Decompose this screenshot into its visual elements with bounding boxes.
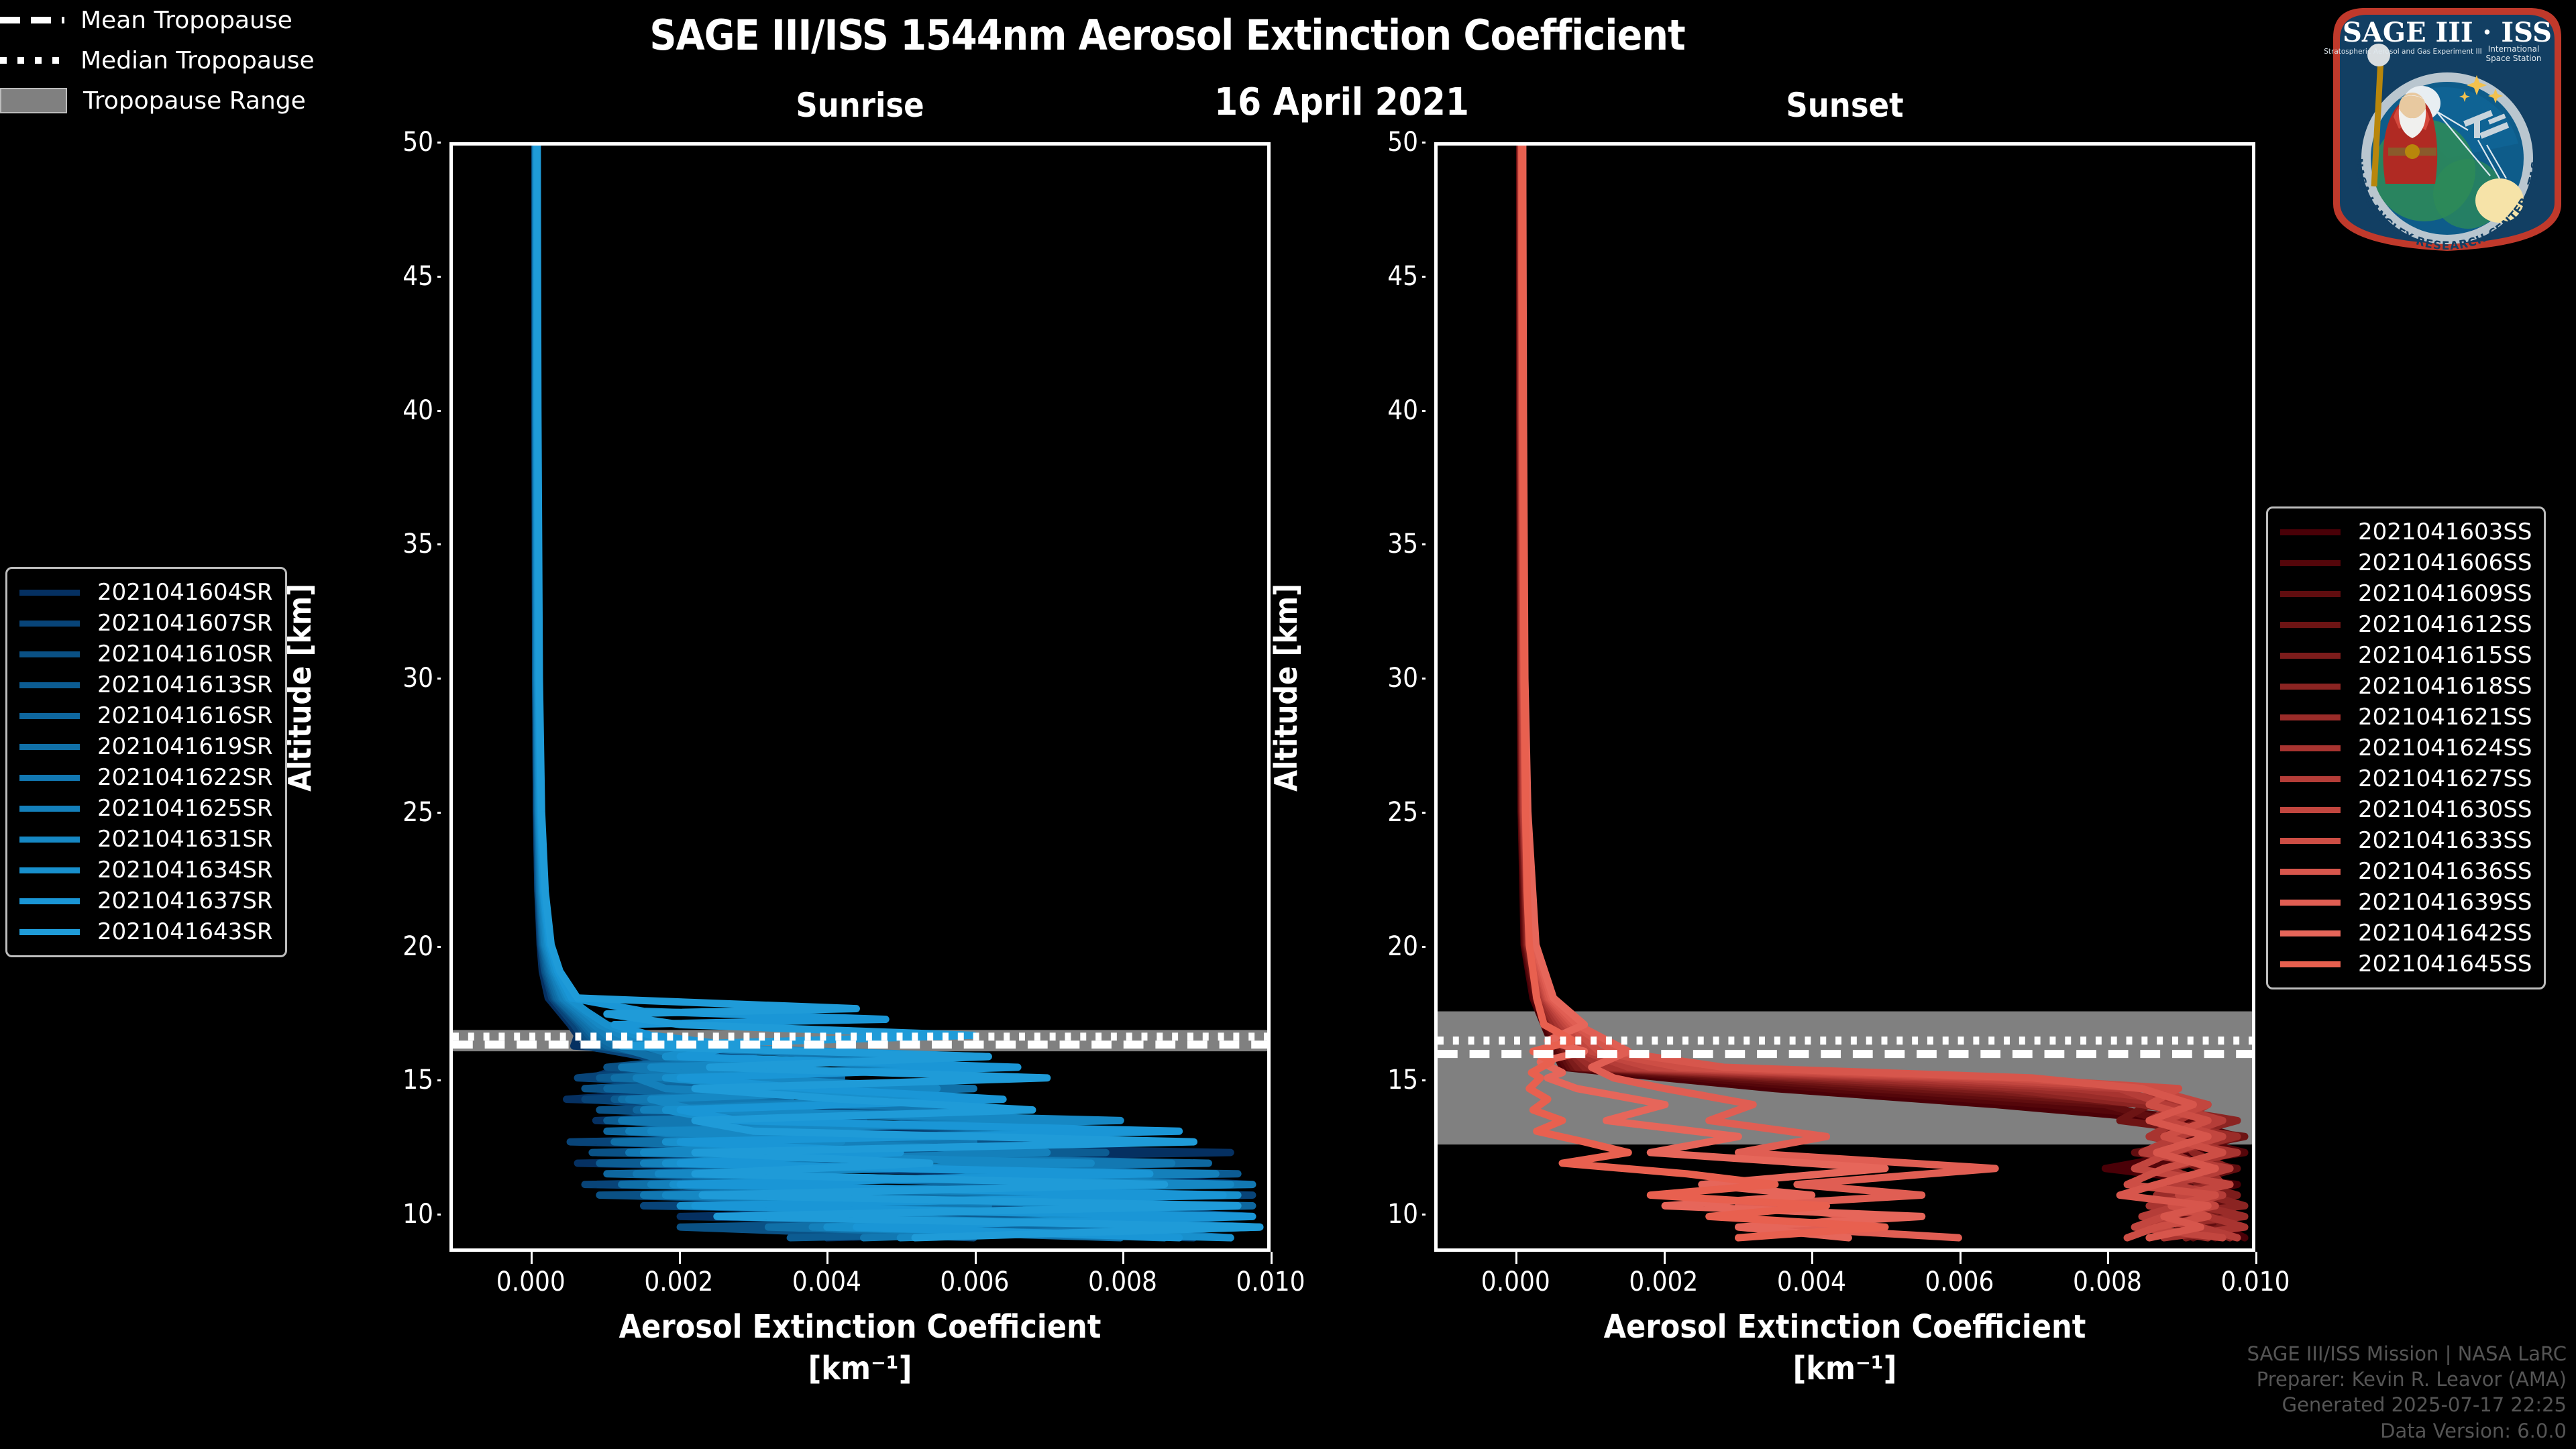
x-axis-tick-label: 0.002 <box>1629 1267 1698 1297</box>
legend-label: 2021041616SR <box>97 702 273 729</box>
legend-item[interactable]: 2021041604SR <box>19 577 273 608</box>
legend-label: 2021041603SS <box>2358 519 2532 545</box>
legend-item[interactable]: 2021041630SS <box>2280 794 2532 825</box>
sunrise-legend[interactable]: 2021041604SR2021041607SR2021041610SR2021… <box>5 567 287 957</box>
legend-color-swatch <box>19 775 80 781</box>
legend-color-swatch <box>19 621 80 627</box>
legend-color-swatch <box>2280 745 2341 751</box>
x-axis-tick-label: 0.002 <box>644 1267 713 1297</box>
legend-color-swatch <box>2280 961 2341 967</box>
legend-item[interactable]: 2021041637SR <box>19 885 273 916</box>
legend-item[interactable]: 2021041636SS <box>2280 856 2532 887</box>
legend-item[interactable]: 2021041609SS <box>2280 578 2532 609</box>
x-axis-tick <box>1811 1252 1813 1264</box>
y-axis-tick <box>437 543 441 545</box>
legend-color-swatch <box>2280 807 2341 813</box>
logo-subtitle-left: Stratospheric Aerosol and Gas Experiment… <box>2324 48 2482 56</box>
attribution-line: Generated 2025-07-17 22:25 <box>2247 1392 2567 1417</box>
y-axis-tick-label: 25 <box>402 797 433 828</box>
legend-color-swatch <box>19 806 80 812</box>
y-axis-tick <box>1422 543 1426 545</box>
x-axis-tick <box>2107 1252 2109 1264</box>
legend-color-swatch <box>19 590 80 596</box>
y-axis-tick-label: 20 <box>1387 931 1418 962</box>
legend-label: 2021041633SS <box>2358 827 2532 854</box>
sunset-panel-title: Sunset <box>1434 86 2255 125</box>
legend-label: 2021041645SS <box>2358 951 2532 977</box>
legend-color-swatch <box>2280 869 2341 875</box>
sunset-legend[interactable]: 2021041603SS2021041606SS2021041609SS2021… <box>2266 506 2546 989</box>
y-axis-tick <box>437 812 441 814</box>
sunset-x-axis-unit: [km⁻¹] <box>1434 1350 2255 1387</box>
y-axis-tick <box>1422 812 1426 814</box>
attribution-line: SAGE III/ISS Mission | NASA LaRC <box>2247 1341 2567 1366</box>
page-title: SAGE III/ISS 1544nm Aerosol Extinction C… <box>0 11 2334 60</box>
x-axis-tick <box>1122 1252 1124 1264</box>
y-axis-tick-label: 30 <box>1387 663 1418 694</box>
sunset-y-axis-label: Altitude [km] <box>1268 584 1304 792</box>
sunrise-x-axis-unit: [km⁻¹] <box>449 1350 1271 1387</box>
legend-item[interactable]: 2021041603SS <box>2280 517 2532 547</box>
attribution-block: SAGE III/ISS Mission | NASA LaRCPreparer… <box>2247 1341 2567 1444</box>
legend-color-swatch <box>2280 653 2341 659</box>
legend-item[interactable]: 2021041610SR <box>19 639 273 669</box>
y-axis-tick <box>437 142 441 144</box>
x-axis-tick-label: 0.006 <box>1925 1267 1994 1297</box>
legend-item[interactable]: 2021041642SS <box>2280 918 2532 949</box>
legend-label: 2021041643SR <box>97 918 273 945</box>
legend-color-swatch <box>19 713 80 719</box>
legend-item[interactable]: 2021041622SR <box>19 762 273 793</box>
y-axis-tick-label: 25 <box>1387 797 1418 828</box>
legend-label: 2021041604SR <box>97 579 273 606</box>
y-axis-tick <box>437 1079 441 1081</box>
legend-color-swatch <box>19 744 80 750</box>
y-axis-tick-label: 40 <box>1387 395 1418 426</box>
legend-label: 2021041642SS <box>2358 920 2532 947</box>
legend-label: 2021041624SS <box>2358 735 2532 761</box>
legend-item[interactable]: 2021041627SS <box>2280 763 2532 794</box>
x-axis-tick-label: 0.010 <box>2221 1267 2290 1297</box>
legend-color-swatch <box>19 682 80 688</box>
y-axis-tick <box>1422 410 1426 412</box>
y-axis-tick-label: 10 <box>402 1199 433 1230</box>
legend-label: 2021041606SS <box>2358 549 2532 576</box>
x-axis-tick <box>1515 1252 1517 1264</box>
legend-color-swatch <box>19 837 80 843</box>
y-axis-tick-label: 35 <box>1387 529 1418 559</box>
x-axis-tick-label: 0.004 <box>792 1267 861 1297</box>
legend-label: 2021041621SS <box>2358 704 2532 731</box>
legend-label: 2021041634SR <box>97 857 273 883</box>
x-axis-tick <box>679 1252 681 1264</box>
legend-color-swatch <box>2280 622 2341 628</box>
x-axis-tick <box>1960 1252 1962 1264</box>
legend-color-swatch <box>2280 560 2341 566</box>
y-axis-tick-label: 50 <box>1387 127 1418 158</box>
y-axis-tick-label: 30 <box>402 663 433 694</box>
legend-color-swatch <box>2280 684 2341 690</box>
legend-label: 2021041630SS <box>2358 796 2532 823</box>
legend-color-swatch <box>2280 838 2341 844</box>
legend-label: 2021041627SS <box>2358 765 2532 792</box>
legend-item[interactable]: 2021041606SS <box>2280 547 2532 578</box>
legend-label: 2021041637SR <box>97 888 273 914</box>
legend-item[interactable]: 2021041639SS <box>2280 887 2532 918</box>
legend-color-swatch <box>19 898 80 904</box>
legend-color-swatch <box>19 929 80 935</box>
y-axis-tick <box>1422 946 1426 948</box>
legend-color-swatch <box>2280 900 2341 906</box>
legend-label: 2021041618SS <box>2358 673 2532 700</box>
legend-item[interactable]: 2021041607SR <box>19 608 273 639</box>
y-axis-tick-label: 50 <box>402 127 433 158</box>
legend-item[interactable]: 2021041645SS <box>2280 949 2532 979</box>
attribution-line: Preparer: Kevin R. Leavor (AMA) <box>2247 1366 2567 1392</box>
y-axis-tick-label: 40 <box>402 395 433 426</box>
legend-color-swatch <box>2280 591 2341 597</box>
x-axis-tick <box>826 1252 828 1264</box>
legend-item[interactable]: 2021041625SR <box>19 793 273 824</box>
legend-label: 2021041612SS <box>2358 611 2532 638</box>
legend-item[interactable]: 2021041634SR <box>19 855 273 885</box>
x-axis-tick-label: 0.006 <box>940 1267 1009 1297</box>
legend-label: 2021041639SS <box>2358 889 2532 916</box>
x-axis-tick-label: 0.000 <box>1481 1267 1550 1297</box>
y-axis-tick-label: 10 <box>1387 1199 1418 1230</box>
legend-item[interactable]: 2021041618SS <box>2280 671 2532 702</box>
legend-item[interactable]: 2021041631SR <box>19 824 273 855</box>
sage-iii-iss-mission-patch-logo: SAGE III · ISS Stratospheric Aerosol and… <box>2324 3 2571 255</box>
y-axis-tick <box>1422 142 1426 144</box>
x-axis-tick <box>1664 1252 1666 1264</box>
legend-item[interactable]: 2021041619SR <box>19 731 273 762</box>
attribution-line: Data Version: 6.0.0 <box>2247 1418 2567 1444</box>
legend-color-swatch <box>19 867 80 873</box>
legend-item[interactable]: 2021041633SS <box>2280 825 2532 856</box>
legend-color-swatch <box>2280 930 2341 936</box>
y-axis-tick <box>1422 1214 1426 1216</box>
tropopause-legend-label: Tropopause Range <box>83 87 306 115</box>
legend-color-swatch <box>19 651 80 657</box>
legend-item[interactable]: 2021041615SS <box>2280 640 2532 671</box>
x-axis-tick <box>2255 1252 2257 1264</box>
y-axis-tick-label: 35 <box>402 529 433 559</box>
y-axis-tick-label: 15 <box>402 1065 433 1095</box>
logo-subtitle-right-line1: International <box>2488 44 2540 54</box>
legend-label: 2021041607SR <box>97 610 273 637</box>
y-axis-tick <box>1422 678 1426 680</box>
legend-label: 2021041610SR <box>97 641 273 667</box>
x-axis-tick-label: 0.010 <box>1236 1267 1305 1297</box>
y-axis-tick <box>1422 276 1426 278</box>
y-axis-tick-label: 45 <box>402 261 433 292</box>
y-axis-tick-label: 15 <box>1387 1065 1418 1095</box>
legend-item[interactable]: 2021041643SR <box>19 916 273 947</box>
legend-item[interactable]: 2021041616SR <box>19 700 273 731</box>
y-axis-tick-label: 45 <box>1387 261 1418 292</box>
legend-color-swatch <box>2280 776 2341 782</box>
sunrise-y-axis-label: Altitude [km] <box>282 584 318 792</box>
legend-label: 2021041636SS <box>2358 858 2532 885</box>
legend-color-swatch <box>2280 529 2341 535</box>
logo-title: SAGE III · ISS <box>2343 17 2552 48</box>
legend-item[interactable]: 2021041613SR <box>19 669 273 700</box>
y-axis-tick <box>437 946 441 948</box>
y-axis-tick <box>437 410 441 412</box>
x-axis-tick-label: 0.004 <box>1777 1267 1846 1297</box>
sunrise-x-axis <box>449 142 1271 1252</box>
x-axis-tick-label: 0.008 <box>2073 1267 2142 1297</box>
legend-label: 2021041609SS <box>2358 580 2532 607</box>
legend-label: 2021041619SR <box>97 733 273 760</box>
x-axis-tick-label: 0.000 <box>496 1267 566 1297</box>
x-axis-tick-label: 0.008 <box>1088 1267 1157 1297</box>
sunrise-x-axis-label: Aerosol Extinction Coefficient <box>449 1308 1271 1346</box>
legend-label: 2021041622SR <box>97 764 273 791</box>
y-axis-tick <box>437 678 441 680</box>
y-axis-tick-label: 20 <box>402 931 433 962</box>
legend-label: 2021041625SR <box>97 795 273 822</box>
x-axis-tick <box>531 1252 533 1264</box>
y-axis-tick <box>437 276 441 278</box>
x-axis-tick <box>1271 1252 1273 1264</box>
legend-item[interactable]: 2021041621SS <box>2280 702 2532 733</box>
legend-label: 2021041615SS <box>2358 642 2532 669</box>
y-axis-tick <box>1422 1079 1426 1081</box>
logo-subtitle-right-line2: Space Station <box>2485 54 2541 63</box>
legend-color-swatch <box>2280 714 2341 720</box>
sunset-x-axis <box>1434 142 2255 1252</box>
legend-label: 2021041613SR <box>97 672 273 698</box>
sunset-x-axis-label: Aerosol Extinction Coefficient <box>1434 1308 2255 1346</box>
legend-item[interactable]: 2021041624SS <box>2280 733 2532 763</box>
y-axis-tick <box>437 1214 441 1216</box>
tropopause-range-swatch <box>0 88 67 113</box>
legend-item[interactable]: 2021041612SS <box>2280 609 2532 640</box>
x-axis-tick <box>975 1252 977 1264</box>
legend-label: 2021041631SR <box>97 826 273 853</box>
